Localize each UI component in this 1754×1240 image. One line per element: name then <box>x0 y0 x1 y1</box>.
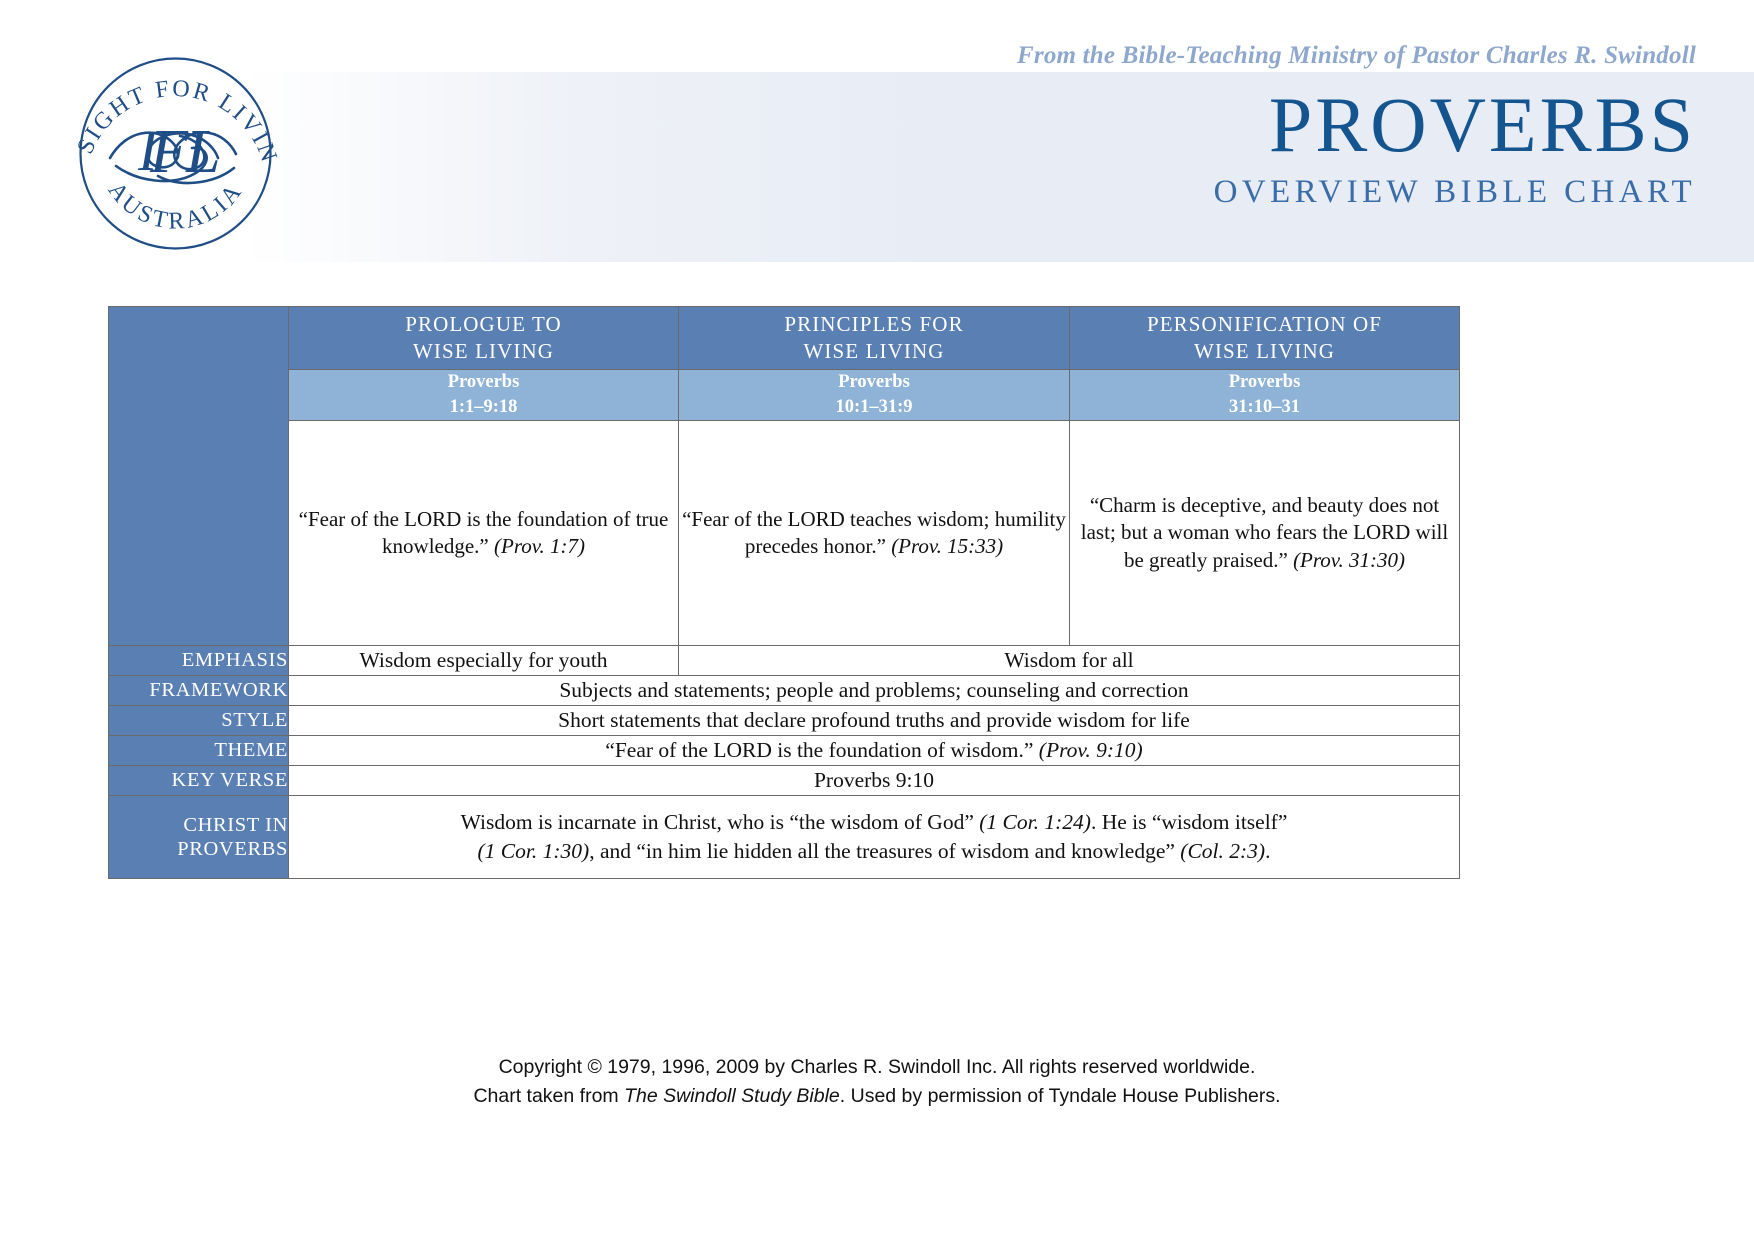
page-subtitle: OVERVIEW BIBLE CHART <box>1214 174 1696 211</box>
emphasis-value-1: Wisdom especially for youth <box>289 645 679 675</box>
christ-line-2: (1 Cor. 1:30), and “in him lie hidden al… <box>307 837 1441 866</box>
christ-ref-2: (1 Cor. 1:30) <box>478 839 590 863</box>
theme-reference: (Prov. 9:10) <box>1039 738 1143 762</box>
section-heading-line2: WISE LIVING <box>679 338 1069 365</box>
section-heading-prologue: PROLOGUE TO WISE LIVING <box>289 307 679 370</box>
quote-reference: (Prov. 31:30) <box>1293 548 1405 572</box>
christ-text-c: , and “in him lie hidden all the treasur… <box>589 839 1180 863</box>
section-heading-line2: WISE LIVING <box>1070 338 1459 365</box>
table-row-emphasis: EMPHASIS Wisdom especially for youth Wis… <box>109 645 1460 675</box>
christ-line-1: Wisdom is incarnate in Christ, who is “t… <box>307 808 1441 837</box>
sidelabel-spacer <box>109 307 289 646</box>
table-row-references: Proverbs 1:1–9:18 Proverbs 10:1–31:9 Pro… <box>109 370 1460 421</box>
section-heading-line1: PERSONIFICATION OF <box>1070 311 1459 338</box>
ministry-tagline: From the Bible-Teaching Ministry of Past… <box>1017 42 1696 70</box>
reference-principles: Proverbs 10:1–31:9 <box>679 370 1070 421</box>
christ-ref-1: (1 Cor. 1:24) <box>979 810 1091 834</box>
reference-book: Proverbs <box>679 370 1069 395</box>
copyright-footer: Copyright © 1979, 1996, 2009 by Charles … <box>0 1053 1754 1112</box>
row-label-line1: CHRIST IN <box>109 813 288 837</box>
proverbs-overview-table: PROLOGUE TO WISE LIVING PRINCIPLES FOR W… <box>108 306 1460 879</box>
page-header: INSIGHT FOR LIVING AUSTRALIA I F L From … <box>0 0 1754 270</box>
section-heading-principles: PRINCIPLES FOR WISE LIVING <box>679 307 1070 370</box>
reference-personification: Proverbs 31:10–31 <box>1070 370 1460 421</box>
style-value: Short statements that declare profound t… <box>289 705 1460 735</box>
row-label-emphasis: EMPHASIS <box>109 645 289 675</box>
quote-text: “Fear of the LORD is the foundation of t… <box>299 507 669 558</box>
chart-source-suffix: . Used by permission of Tyndale House Pu… <box>840 1085 1281 1107</box>
christ-text-b: . He is “wisdom itself” <box>1091 810 1287 834</box>
reference-range: 10:1–31:9 <box>679 395 1069 420</box>
row-label-framework: FRAMEWORK <box>109 675 289 705</box>
copyright-line-2: Chart taken from The Swindoll Study Bibl… <box>0 1082 1754 1111</box>
section-heading-line1: PROLOGUE TO <box>289 311 678 338</box>
row-label-christ-in-proverbs: CHRIST IN PROVERBS <box>109 796 289 879</box>
theme-text: “Fear of the LORD is the foundation of w… <box>605 738 1039 762</box>
emphasis-value-2: Wisdom for all <box>679 645 1460 675</box>
table-row-theme: THEME “Fear of the LORD is the foundatio… <box>109 735 1460 765</box>
svg-text:L: L <box>185 118 220 186</box>
table-row-section-headings: PROLOGUE TO WISE LIVING PRINCIPLES FOR W… <box>109 307 1460 370</box>
reference-prologue: Proverbs 1:1–9:18 <box>289 370 679 421</box>
title-block: PROVERBS OVERVIEW BIBLE CHART <box>1214 88 1696 211</box>
reference-book: Proverbs <box>289 370 678 395</box>
row-label-style: STYLE <box>109 705 289 735</box>
quote-text: “Fear of the LORD teaches wisdom; humili… <box>682 507 1066 558</box>
chart-source-title: The Swindoll Study Bible <box>624 1085 840 1107</box>
row-label-line2: PROVERBS <box>109 837 288 861</box>
christ-ref-3: (Col. 2:3) <box>1180 839 1265 863</box>
reference-range: 31:10–31 <box>1070 395 1459 420</box>
svg-text:F: F <box>149 118 189 186</box>
copyright-line-1: Copyright © 1979, 1996, 2009 by Charles … <box>0 1053 1754 1082</box>
christ-text-d: . <box>1265 839 1270 863</box>
section-heading-personification: PERSONIFICATION OF WISE LIVING <box>1070 307 1460 370</box>
insight-for-living-logo: INSIGHT FOR LIVING AUSTRALIA I F L <box>68 46 283 261</box>
christ-in-proverbs-value: Wisdom is incarnate in Christ, who is “t… <box>289 796 1460 879</box>
section-heading-line2: WISE LIVING <box>289 338 678 365</box>
quote-prologue: “Fear of the LORD is the foundation of t… <box>289 420 679 645</box>
row-label-key-verse: KEY VERSE <box>109 766 289 796</box>
table-row-key-verse: KEY VERSE Proverbs 9:10 <box>109 766 1460 796</box>
quote-principles: “Fear of the LORD teaches wisdom; humili… <box>679 420 1070 645</box>
page-title: PROVERBS <box>1214 88 1696 162</box>
table-row-quotes: “Fear of the LORD is the foundation of t… <box>109 420 1460 645</box>
overview-chart: PROLOGUE TO WISE LIVING PRINCIPLES FOR W… <box>108 306 1460 879</box>
reference-book: Proverbs <box>1070 370 1459 395</box>
christ-text-a: Wisdom is incarnate in Christ, who is “t… <box>461 810 980 834</box>
chart-source-prefix: Chart taken from <box>473 1085 624 1107</box>
svg-text:AUSTRALIA: AUSTRALIA <box>103 178 249 235</box>
section-heading-line1: PRINCIPLES FOR <box>679 311 1069 338</box>
key-verse-value: Proverbs 9:10 <box>289 766 1460 796</box>
table-row-framework: FRAMEWORK Subjects and statements; peopl… <box>109 675 1460 705</box>
row-label-theme: THEME <box>109 735 289 765</box>
table-row-christ-in-proverbs: CHRIST IN PROVERBS Wisdom is incarnate i… <box>109 796 1460 879</box>
quote-personification: “Charm is deceptive, and beauty does not… <box>1070 420 1460 645</box>
theme-value: “Fear of the LORD is the foundation of w… <box>289 735 1460 765</box>
reference-range: 1:1–9:18 <box>289 395 678 420</box>
quote-reference: (Prov. 15:33) <box>891 534 1003 558</box>
table-row-style: STYLE Short statements that declare prof… <box>109 705 1460 735</box>
quote-reference: (Prov. 1:7) <box>494 534 585 558</box>
framework-value: Subjects and statements; people and prob… <box>289 675 1460 705</box>
